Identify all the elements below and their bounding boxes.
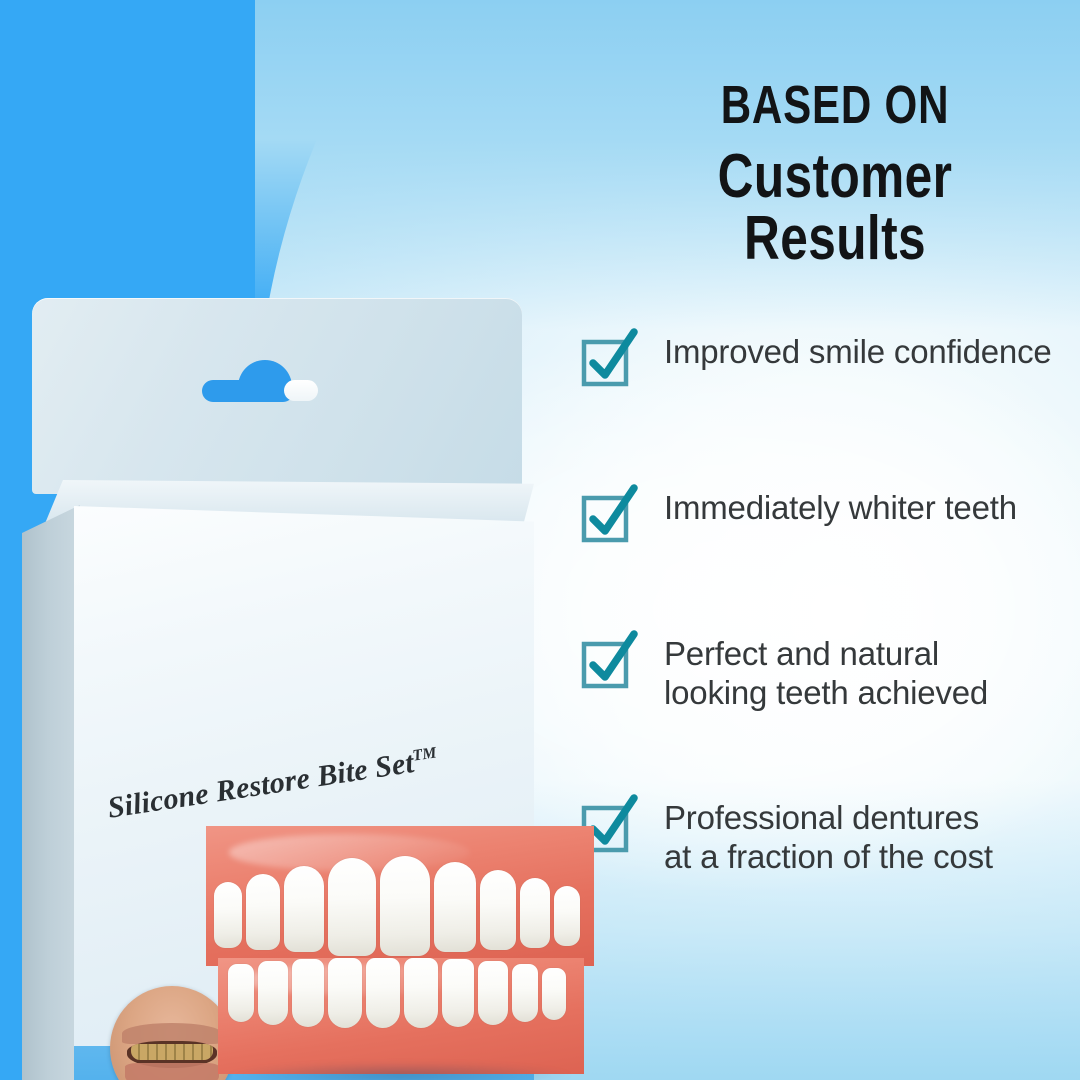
- trademark-symbol: TM: [411, 744, 437, 764]
- package-hang-tab: [32, 298, 522, 494]
- benefit-item-improved-smile-confidence: Improved smile confidence: [578, 330, 1078, 390]
- ad-canvas: BASED ON Customer Results Improved smile…: [0, 0, 1080, 1080]
- headline-line-2: Customer Results: [647, 146, 1023, 270]
- benefit-label: Perfect and natural looking teeth achiev…: [664, 632, 988, 712]
- package-side-face: [22, 505, 80, 1080]
- benefit-item-immediately-whiter-teeth: Immediately whiter teeth: [578, 486, 1078, 546]
- benefit-label: Immediately whiter teeth: [664, 486, 1017, 528]
- benefits-checklist: Improved smile confidence Immediately wh…: [578, 330, 1078, 876]
- benefit-label: Professional dentures at a fraction of t…: [664, 796, 993, 876]
- headline-line-1: BASED ON: [652, 78, 1019, 132]
- checkbox-checked-icon: [578, 634, 636, 692]
- product-package: Silicone Restore Bite SetTM: [14, 290, 574, 1030]
- headline-block: BASED ON Customer Results: [600, 78, 1070, 270]
- product-brand-name: Silicone Restore Bite SetTM: [105, 728, 534, 826]
- foreground-denture: [200, 826, 600, 1076]
- euro-slot-hole-icon: [202, 360, 320, 402]
- checkbox-checked-icon: [578, 488, 636, 546]
- benefit-item-perfect-natural-teeth: Perfect and natural looking teeth achiev…: [578, 632, 1078, 712]
- denture-drop-shadow: [224, 1062, 576, 1080]
- denture-upper-arch: [206, 826, 594, 966]
- denture-lower-arch: [218, 958, 584, 1074]
- benefit-label: Improved smile confidence: [664, 330, 1052, 372]
- checkbox-checked-icon: [578, 332, 636, 390]
- benefit-item-professional-dentures-cost: Professional dentures at a fraction of t…: [578, 796, 1078, 876]
